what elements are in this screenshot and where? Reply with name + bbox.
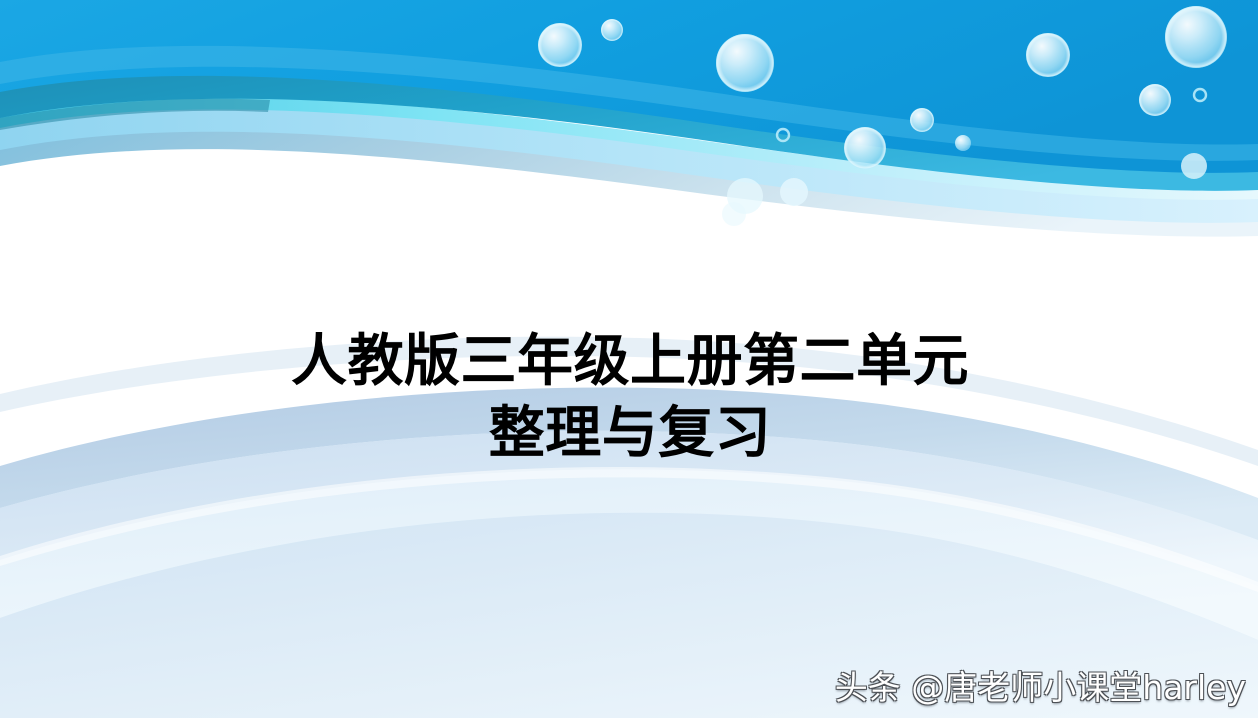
presentation-slide: 人教版三年级上册第二单元 整理与复习 头条 @唐老师小课堂harley <box>0 0 1258 718</box>
bubble <box>538 23 582 67</box>
bubble <box>1139 84 1171 116</box>
bubble <box>1181 153 1207 179</box>
bubble <box>716 34 774 92</box>
bubble <box>780 178 808 206</box>
bubble <box>727 178 763 214</box>
bubble <box>1026 33 1070 77</box>
bubble <box>844 127 886 169</box>
bubble <box>601 19 623 41</box>
slide-background <box>0 0 1258 718</box>
bubble <box>1165 6 1227 68</box>
bubble <box>910 108 934 132</box>
bubble <box>955 135 971 151</box>
